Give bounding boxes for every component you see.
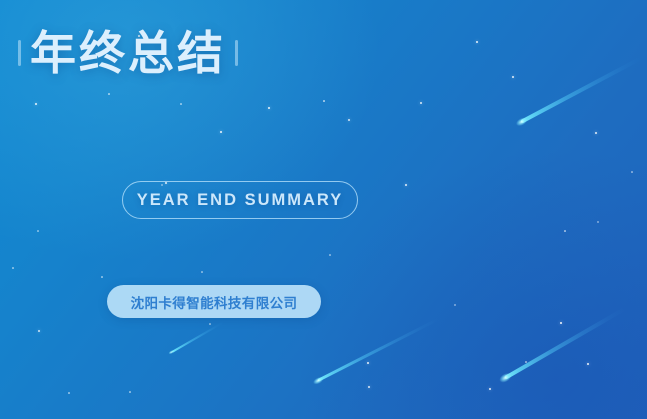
star-dot [489, 388, 491, 390]
star-dot [201, 271, 203, 273]
star-dot [180, 103, 182, 105]
star-dot [268, 107, 270, 109]
page-title: 年终总结 [30, 30, 226, 76]
shooting-star-icon [317, 318, 440, 383]
comet-head [168, 349, 175, 355]
star-dot [37, 230, 39, 232]
star-dot [220, 131, 222, 133]
star-dot [560, 322, 563, 325]
star-dot [38, 330, 40, 332]
star-dot [209, 323, 211, 325]
star-dot [12, 267, 14, 269]
star-dot [476, 41, 478, 43]
star-dot [631, 171, 633, 173]
slide-canvas: 年终总结 YEAR END SUMMARY 沈阳卡得智能科技有限公司 [0, 0, 647, 419]
title-tick-left-icon [18, 40, 21, 66]
star-dot [367, 362, 369, 364]
star-dot [597, 221, 598, 222]
star-dot [368, 386, 370, 388]
title-tick-right-icon [235, 40, 238, 66]
star-dot [348, 119, 350, 121]
comet-tail [317, 318, 440, 383]
shooting-star-icon [520, 57, 642, 124]
star-dot [323, 100, 325, 102]
subtitle-label: YEAR END SUMMARY [137, 191, 343, 210]
star-dot [101, 276, 103, 278]
star-dot [329, 254, 331, 256]
star-dot [564, 230, 566, 232]
comet-head [312, 376, 325, 387]
company-pill: 沈阳卡得智能科技有限公司 [107, 285, 321, 318]
star-dot [35, 103, 37, 105]
star-dot [405, 184, 407, 186]
star-dot [68, 392, 70, 394]
star-dot [129, 391, 131, 393]
company-label: 沈阳卡得智能科技有限公司 [131, 292, 298, 312]
star-dot [595, 132, 597, 134]
star-dot [512, 76, 514, 78]
star-dot [454, 304, 455, 305]
star-dot [420, 102, 422, 104]
comet-tail [172, 321, 225, 353]
star-dot [525, 361, 527, 363]
shooting-star-icon [172, 321, 225, 353]
title-block: 年终总结 [18, 30, 238, 76]
star-dot [108, 93, 110, 95]
comet-tail [504, 307, 626, 380]
comet-head [515, 116, 528, 127]
comet-tail [520, 57, 642, 124]
star-dot [587, 363, 589, 365]
shooting-star-icon [504, 307, 626, 380]
subtitle-pill: YEAR END SUMMARY [122, 181, 358, 219]
comet-head [498, 371, 514, 385]
